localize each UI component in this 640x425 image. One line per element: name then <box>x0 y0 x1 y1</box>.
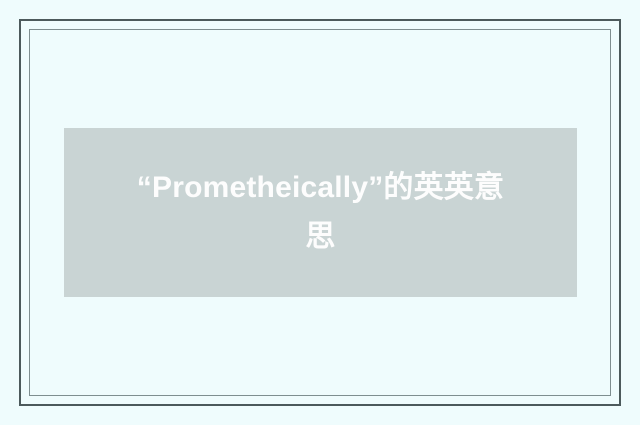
title-banner: “Prometheically”的英英意思 <box>64 128 577 297</box>
page-canvas: “Prometheically”的英英意思 <box>0 0 640 425</box>
page-title: “Prometheically”的英英意思 <box>124 164 517 261</box>
